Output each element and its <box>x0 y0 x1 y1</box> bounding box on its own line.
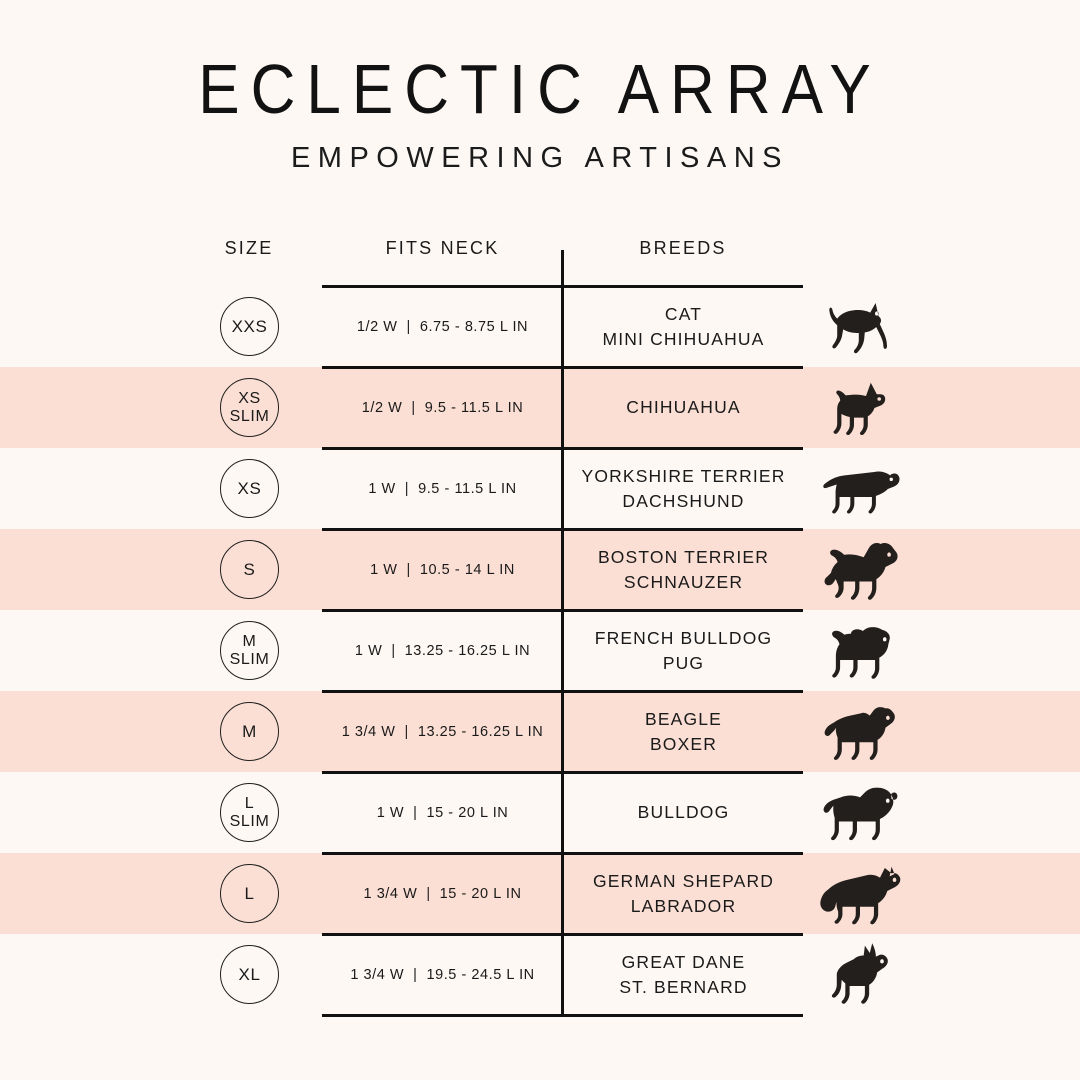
breed-name: BOSTON TERRIER <box>598 545 769 570</box>
neck-width-value: 1 W <box>377 805 404 821</box>
bulldog-silhouette-icon-glyph <box>819 784 901 842</box>
breed-name: BULLDOG <box>638 800 730 825</box>
breed-name: CHIHUAHUA <box>626 395 740 420</box>
value-separator: | <box>413 805 417 821</box>
value-separator: | <box>411 400 415 416</box>
fits-neck-value: 1 W|15 - 20 L IN <box>322 772 563 853</box>
breeds-value: GREAT DANEST. BERNARD <box>564 934 803 1015</box>
table-row: XXS1/2 W|6.75 - 8.75 L INCATMINI CHIHUAH… <box>0 286 1080 367</box>
breed-name: FRENCH BULLDOG <box>595 626 773 651</box>
size-label: S <box>244 560 256 579</box>
page-title: ECLECTIC ARRAY <box>0 56 1080 125</box>
value-separator: | <box>426 886 430 902</box>
dachshund-silhouette-icon-glyph <box>817 464 903 514</box>
breed-name: LABRADOR <box>631 894 736 919</box>
neck-length-value: 13.25 - 16.25 L IN <box>405 643 530 659</box>
neck-width-value: 1 3/4 W <box>364 886 418 902</box>
neck-length-value: 9.5 - 11.5 L IN <box>418 481 517 497</box>
table-row: M SLIM1 W|13.25 - 16.25 L INFRENCH BULLD… <box>0 610 1080 691</box>
breeds-value: GERMAN SHEPARDLABRADOR <box>564 853 803 934</box>
neck-length-value: 15 - 20 L IN <box>440 886 522 902</box>
size-badge: S <box>220 540 279 599</box>
bulldog-silhouette-icon <box>812 772 908 853</box>
table-row: XS1 W|9.5 - 11.5 L INYORKSHIRE TERRIERDA… <box>0 448 1080 529</box>
dachshund-silhouette-icon <box>812 448 908 529</box>
table-row: XL1 3/4 W|19.5 - 24.5 L INGREAT DANEST. … <box>0 934 1080 1015</box>
size-badge: XL <box>220 945 279 1004</box>
neck-width-value: 1 W <box>355 643 382 659</box>
breeds-value: FRENCH BULLDOGPUG <box>564 610 803 691</box>
neck-width-value: 1/2 W <box>357 319 398 335</box>
table-row: L SLIM1 W|15 - 20 L INBULLDOG <box>0 772 1080 853</box>
great-dane-silhouette-icon-glyph <box>822 942 898 1008</box>
size-chart-table: SIZE FITS NECK BREEDS XXS1/2 W|6.75 - 8.… <box>0 224 1080 1015</box>
breeds-value: YORKSHIRE TERRIERDACHSHUND <box>564 448 803 529</box>
neck-width-value: 1 W <box>370 562 397 578</box>
cat-silhouette-icon <box>812 286 908 367</box>
fits-neck-value: 1 3/4 W|19.5 - 24.5 L IN <box>322 934 563 1015</box>
breed-name: BOXER <box>650 732 717 757</box>
schnauzer-silhouette-icon <box>812 529 908 610</box>
fits-neck-value: 1 W|13.25 - 16.25 L IN <box>322 610 563 691</box>
breed-name: BEAGLE <box>645 707 722 732</box>
value-separator: | <box>407 319 411 335</box>
brand-header: ECLECTIC ARRAY EMPOWERING ARTISANS <box>0 0 1080 175</box>
breed-name: PUG <box>663 651 704 676</box>
value-separator: | <box>405 481 409 497</box>
column-header-fits-neck: FITS NECK <box>322 238 563 259</box>
neck-length-value: 6.75 - 8.75 L IN <box>420 319 528 335</box>
german-shepherd-silhouette-icon <box>812 853 908 934</box>
breed-name: CAT <box>665 302 702 327</box>
neck-width-value: 1 3/4 W <box>350 967 404 983</box>
column-header-size: SIZE <box>207 238 291 259</box>
german-shepherd-silhouette-icon-glyph <box>817 863 903 925</box>
table-header-row: SIZE FITS NECK BREEDS <box>0 224 1080 286</box>
boxer-silhouette-icon <box>812 691 908 772</box>
size-label: M SLIM <box>230 633 270 669</box>
chihuahua-silhouette-icon <box>812 367 908 448</box>
neck-length-value: 10.5 - 14 L IN <box>420 562 515 578</box>
fits-neck-value: 1/2 W|6.75 - 8.75 L IN <box>322 286 563 367</box>
value-separator: | <box>405 724 409 740</box>
fits-neck-value: 1 W|9.5 - 11.5 L IN <box>322 448 563 529</box>
breed-name: SCHNAUZER <box>624 570 743 595</box>
breeds-value: BOSTON TERRIERSCHNAUZER <box>564 529 803 610</box>
table-row: M1 3/4 W|13.25 - 16.25 L INBEAGLEBOXER <box>0 691 1080 772</box>
neck-length-value: 19.5 - 24.5 L IN <box>426 967 534 983</box>
size-label: L SLIM <box>230 795 270 831</box>
breeds-value: CHIHUAHUA <box>564 367 803 448</box>
size-label: L <box>244 884 254 903</box>
size-badge: L SLIM <box>220 783 279 842</box>
value-separator: | <box>407 562 411 578</box>
breeds-value: BULLDOG <box>564 772 803 853</box>
size-badge: L <box>220 864 279 923</box>
value-separator: | <box>391 643 395 659</box>
size-label: XS <box>238 479 262 498</box>
pug-silhouette-icon <box>812 610 908 691</box>
fits-neck-value: 1/2 W|9.5 - 11.5 L IN <box>322 367 563 448</box>
size-badge: M <box>220 702 279 761</box>
table-body: XXS1/2 W|6.75 - 8.75 L INCATMINI CHIHUAH… <box>0 286 1080 1015</box>
breed-name: MINI CHIHUAHUA <box>603 327 765 352</box>
size-badge: XS SLIM <box>220 378 279 437</box>
size-badge: XXS <box>220 297 279 356</box>
boxer-silhouette-icon-glyph <box>820 702 900 762</box>
neck-length-value: 9.5 - 11.5 L IN <box>425 400 524 416</box>
fits-neck-value: 1 3/4 W|15 - 20 L IN <box>322 853 563 934</box>
size-label: M <box>242 722 257 741</box>
fits-neck-value: 1 3/4 W|13.25 - 16.25 L IN <box>322 691 563 772</box>
breed-name: YORKSHIRE TERRIER <box>582 464 786 489</box>
fits-neck-value: 1 W|10.5 - 14 L IN <box>322 529 563 610</box>
chihuahua-silhouette-icon-glyph <box>824 379 896 437</box>
great-dane-silhouette-icon <box>812 934 908 1015</box>
neck-length-value: 13.25 - 16.25 L IN <box>418 724 543 740</box>
breed-name: ST. BERNARD <box>619 975 747 1000</box>
breed-name: GERMAN SHEPARD <box>593 869 774 894</box>
pug-silhouette-icon-glyph <box>822 621 898 681</box>
value-separator: | <box>413 967 417 983</box>
breed-name: DACHSHUND <box>622 489 744 514</box>
cat-silhouette-icon-glyph <box>821 298 899 356</box>
neck-width-value: 1 3/4 W <box>342 724 396 740</box>
table-row: XS SLIM1/2 W|9.5 - 11.5 L INCHIHUAHUA <box>0 367 1080 448</box>
neck-width-value: 1 W <box>368 481 395 497</box>
table-row: L1 3/4 W|15 - 20 L INGERMAN SHEPARDLABRA… <box>0 853 1080 934</box>
table-row: S1 W|10.5 - 14 L INBOSTON TERRIERSCHNAUZ… <box>0 529 1080 610</box>
size-label: XL <box>239 965 261 984</box>
column-header-breeds: BREEDS <box>563 238 803 259</box>
size-badge: M SLIM <box>220 621 279 680</box>
size-label: XXS <box>232 317 268 336</box>
schnauzer-silhouette-icon-glyph <box>820 539 900 601</box>
neck-length-value: 15 - 20 L IN <box>426 805 508 821</box>
neck-width-value: 1/2 W <box>362 400 403 416</box>
breeds-value: CATMINI CHIHUAHUA <box>564 286 803 367</box>
breeds-value: BEAGLEBOXER <box>564 691 803 772</box>
breed-name: GREAT DANE <box>622 950 746 975</box>
size-badge: XS <box>220 459 279 518</box>
page-subtitle: EMPOWERING ARTISANS <box>0 142 1080 175</box>
size-label: XS SLIM <box>230 390 270 426</box>
